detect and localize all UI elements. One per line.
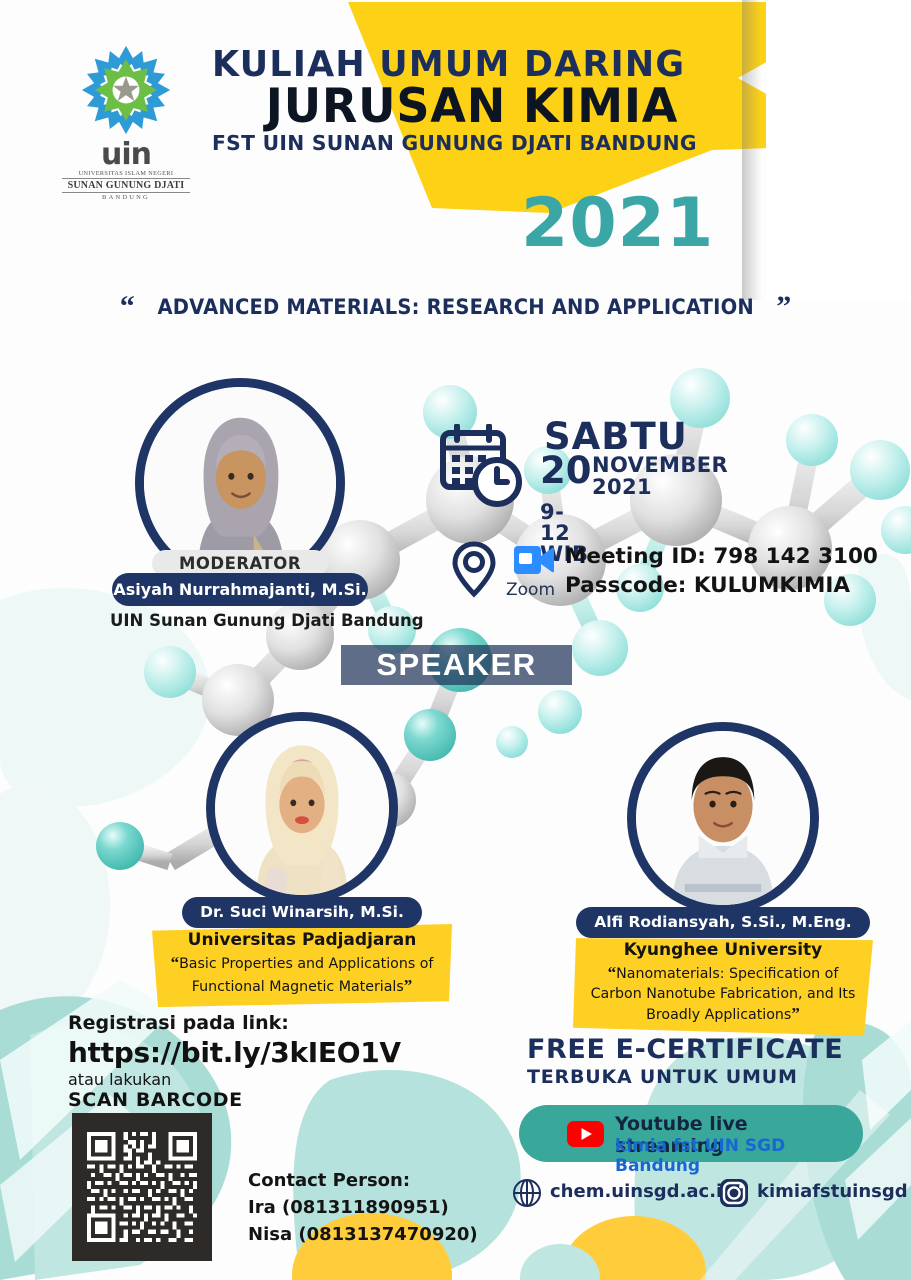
uin-logo: uin UNIVERSITAS ISLAM NEGERI SUNAN GUNUN… xyxy=(62,42,190,201)
moderator-name-badge: Asiyah Nurrahmajanti, M.Si. xyxy=(112,573,368,606)
poster-canvas: uin UNIVERSITAS ISLAM NEGERI SUNAN GUNUN… xyxy=(0,0,911,1280)
certificate-title: FREE E-CERTIFICATE xyxy=(527,1035,843,1065)
registration-link[interactable]: https://bit.ly/3kIEO1V xyxy=(68,1036,401,1069)
calendar-clock-icon xyxy=(440,424,524,508)
instagram-icon xyxy=(719,1178,749,1208)
speaker-1-university: Universitas Padjadjaran xyxy=(162,930,442,951)
speaker-card-1: Dr. Suci Winarsih, M.Si. Universitas Pad… xyxy=(152,712,452,1007)
certificate-block: FREE E-CERTIFICATE TERBUKA UNTUK UMUM xyxy=(527,1035,843,1089)
quote-close-icon: ” xyxy=(776,290,791,323)
speaker-1-info-panel: Universitas Padjadjaran “Basic Propertie… xyxy=(152,924,452,1007)
speaker-section-label: SPEAKER xyxy=(341,645,572,685)
passcode-text: Passcode: KULUMKIMIA xyxy=(565,571,850,600)
youtube-live-pill[interactable]: Youtube live streaming kimia fst UIN SGD… xyxy=(519,1105,863,1162)
speaker-2-info-panel: Kyunghee University “Nanomaterials: Spec… xyxy=(573,934,873,1036)
youtube-channel: kimia fst UIN SGD Bandung xyxy=(615,1136,863,1176)
contact-block: Contact Person: Ira (081311890951) Nisa … xyxy=(248,1167,478,1248)
event-month: NOVEMBER xyxy=(592,454,728,476)
scan-barcode-label: SCAN BARCODE xyxy=(68,1089,401,1111)
uin-emblem-icon xyxy=(78,42,174,138)
quote-open-icon: “ xyxy=(171,953,180,972)
contact-person-2: Nisa (0813137470920) xyxy=(248,1221,478,1248)
speaker-1-name: Dr. Suci Winarsih, M.Si. xyxy=(182,897,422,928)
meeting-id-text: Meeting ID: 798 142 3100 xyxy=(565,542,878,571)
page-fold-white xyxy=(766,0,911,300)
headline-line-3: FST UIN SUNAN GUNUNG DJATI BANDUNG xyxy=(212,132,727,155)
speaker-section-banner: SPEAKER xyxy=(341,645,572,685)
headline-block: KULIAH UMUM DARING JURUSAN KIMIA FST UIN… xyxy=(212,46,732,155)
event-year-small: 2021 xyxy=(592,476,652,498)
speaker-2-avatar xyxy=(627,722,819,914)
registration-alt-label: atau lakukan xyxy=(68,1070,401,1089)
speaker-1-photo xyxy=(215,721,389,895)
qr-code[interactable] xyxy=(72,1113,212,1261)
speaker-1-avatar xyxy=(206,712,398,904)
logo-line-3: BANDUNG xyxy=(62,194,190,201)
location-pin-icon xyxy=(450,540,498,598)
speaker-card-2: Alfi Rodiansyah, S.Si., M.Eng. Kyunghee … xyxy=(573,722,873,1036)
event-date-number: 20 xyxy=(540,452,592,489)
event-year: 2021 xyxy=(521,190,714,258)
speaker-1-talk: “Basic Properties and Applications of Fu… xyxy=(162,952,442,997)
speaker-2-university: Kyunghee University xyxy=(583,940,863,961)
speaker-2-talk-title: Nanomaterials: Specification of Carbon N… xyxy=(591,966,856,1023)
speaker-1-talk-title: Basic Properties and Applications of Fun… xyxy=(179,956,433,994)
quote-close-icon: ” xyxy=(404,976,413,995)
speaker-2-talk: “Nanomaterials: Specification of Carbon … xyxy=(583,962,863,1026)
youtube-icon xyxy=(567,1121,604,1147)
moderator-affiliation: UIN Sunan Gunung Djati Bandung xyxy=(110,611,370,630)
logo-wordmark: uin xyxy=(62,140,190,170)
theme-text: ADVANCED MATERIALS: RESEARCH AND APPLICA… xyxy=(157,295,753,319)
zoom-platform-label: Zoom xyxy=(506,580,555,600)
globe-icon xyxy=(512,1178,542,1208)
moderator-block: MODERATOR Asiyah Nurrahmajanti, M.Si. UI… xyxy=(110,378,370,630)
instagram-handle[interactable]: kimiafstuinsgd xyxy=(757,1181,908,1202)
quote-open-icon: “ xyxy=(608,963,617,982)
headline-line-2: JURUSAN KIMIA xyxy=(217,82,727,131)
registration-label: Registrasi pada link: xyxy=(68,1012,401,1034)
logo-line-2: SUNAN GUNUNG DJATI xyxy=(62,178,190,193)
quote-close-icon: ” xyxy=(791,1004,800,1023)
contact-label: Contact Person: xyxy=(248,1167,478,1194)
contact-person-1: Ira (081311890951) xyxy=(248,1194,478,1221)
certificate-subtitle: TERBUKA UNTUK UMUM xyxy=(527,1066,843,1089)
theme-quote: “ADVANCED MATERIALS: RESEARCH AND APPLIC… xyxy=(0,290,911,324)
quote-open-icon: “ xyxy=(120,290,135,323)
page-fold-shadow xyxy=(742,0,768,300)
speaker-2-name: Alfi Rodiansyah, S.Si., M.Eng. xyxy=(576,907,869,938)
logo-line-1: UNIVERSITAS ISLAM NEGERI xyxy=(62,170,190,177)
website-url[interactable]: chem.uinsgd.ac.id xyxy=(550,1181,735,1202)
speaker-2-photo xyxy=(636,731,810,905)
zoom-camera-icon xyxy=(512,544,554,576)
registration-block: Registrasi pada link: https://bit.ly/3kI… xyxy=(68,1012,401,1111)
